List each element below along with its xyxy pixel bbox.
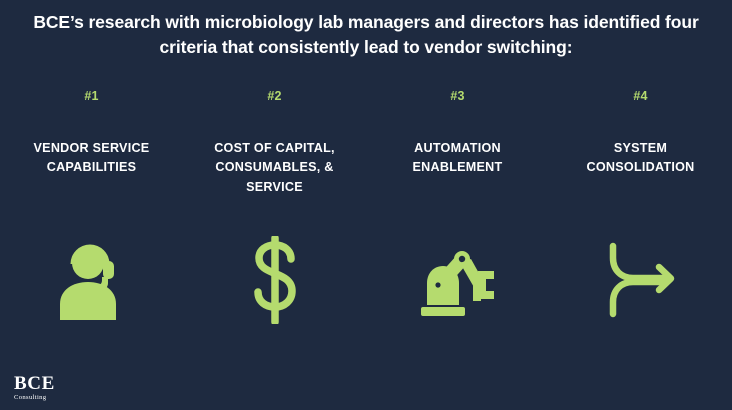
icon-cell-2 (183, 232, 366, 328)
logo-wordmark: BCE (14, 374, 55, 393)
icon-cell-3 (366, 232, 549, 328)
dollar-sign-icon (244, 236, 306, 324)
criterion-label-4: SYSTEM CONSOLIDATION (559, 139, 722, 178)
criterion-rank-3: #3 (376, 90, 539, 103)
bce-consulting-logo: BCE Consulting (14, 374, 55, 402)
slide-canvas: BCE’s research with microbiology lab man… (0, 0, 732, 410)
criterion-label-3: AUTOMATION ENABLEMENT (376, 139, 539, 178)
icon-cell-4 (549, 232, 732, 328)
page-title: BCE’s research with microbiology lab man… (28, 10, 704, 60)
criterion-column-2: #2 COST OF CAPITAL, CONSUMABLES, & SERVI… (183, 90, 366, 197)
logo-subtitle: Consulting (14, 395, 55, 402)
criterion-column-4: #4 SYSTEM CONSOLIDATION (549, 90, 732, 197)
criterion-column-1: #1 VENDOR SERVICE CAPABILITIES (0, 90, 183, 197)
criterion-column-3: #3 AUTOMATION ENABLEMENT (366, 90, 549, 197)
criterion-label-1: VENDOR SERVICE CAPABILITIES (10, 139, 173, 178)
title-block: BCE’s research with microbiology lab man… (28, 10, 704, 60)
criterion-rank-4: #4 (559, 90, 722, 103)
icon-cell-1 (0, 232, 183, 328)
headset-support-agent-icon (55, 240, 129, 320)
merge-arrow-icon (601, 242, 681, 318)
criterion-rank-2: #2 (193, 90, 356, 103)
criterion-rank-1: #1 (10, 90, 173, 103)
criteria-icon-row (0, 232, 732, 328)
criterion-label-2: COST OF CAPITAL, CONSUMABLES, & SERVICE (193, 139, 356, 198)
robotic-arm-icon (415, 243, 501, 317)
criteria-columns: #1 VENDOR SERVICE CAPABILITIES #2 COST O… (0, 90, 732, 197)
